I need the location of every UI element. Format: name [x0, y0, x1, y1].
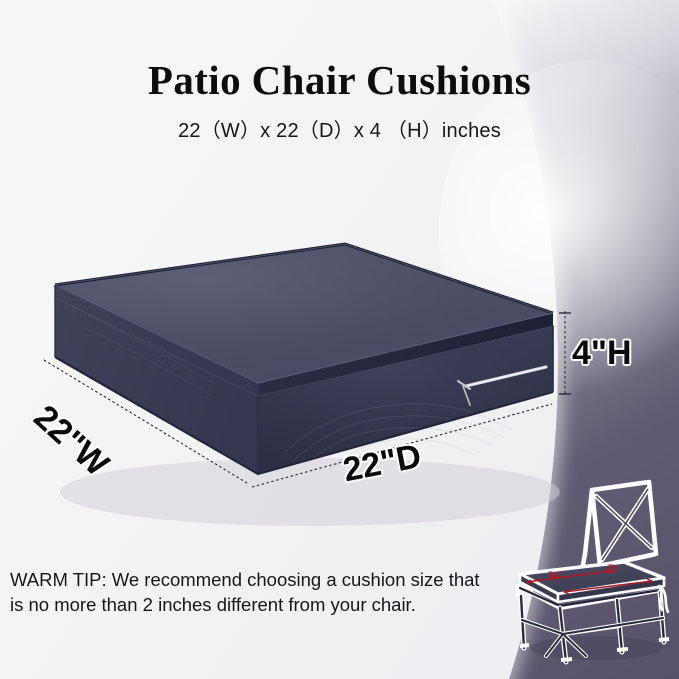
- chair-illustration-icon: W D: [512, 470, 679, 670]
- dimensions-subtitle: 22（W）x 22（D）x 4 （H）inches: [0, 114, 679, 143]
- label-height: 4"H: [572, 334, 632, 373]
- page-title: Patio Chair Cushions: [0, 56, 679, 104]
- cushion-shadow: [60, 458, 560, 526]
- warm-tip-text: WARM TIP: We recommend choosing a cushio…: [10, 568, 480, 618]
- chair-label-width: W: [548, 568, 561, 583]
- chair-label-depth: D: [608, 561, 617, 576]
- product-infographic: Patio Chair Cushions 22（W）x 22（D）x 4 （H）…: [0, 0, 679, 679]
- chair-backrest-frame: [582, 482, 656, 570]
- chair-svg: W D: [512, 470, 679, 670]
